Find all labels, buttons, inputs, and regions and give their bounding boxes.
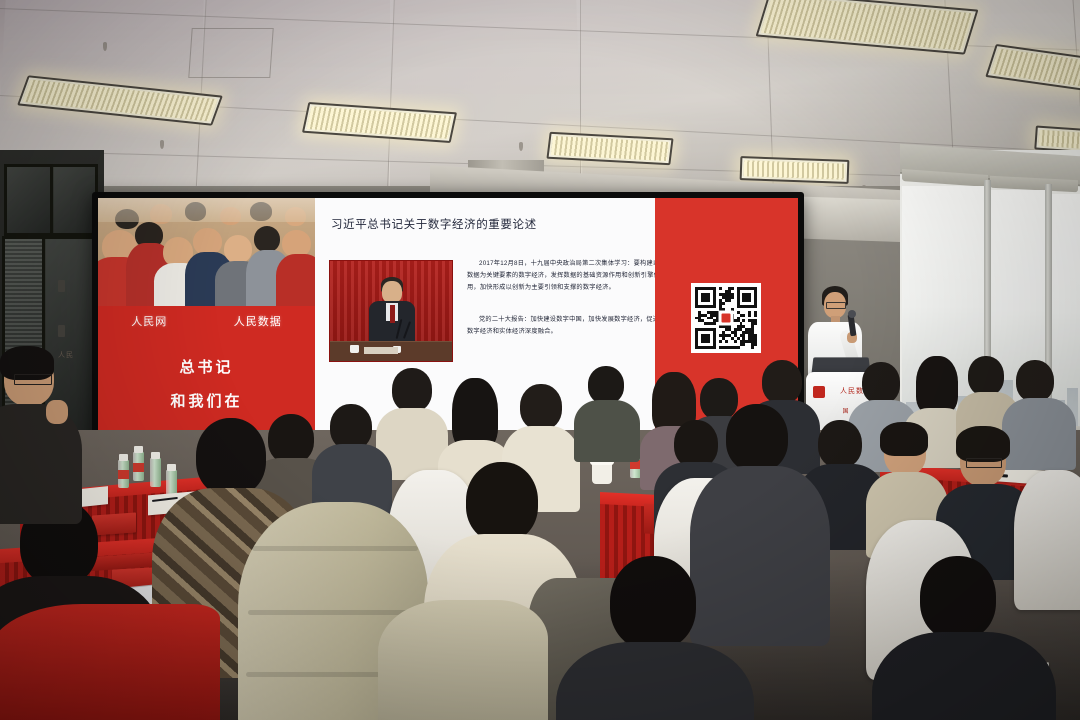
sprinkler-icon (519, 142, 523, 151)
glass-pane (50, 164, 98, 236)
slide-headline-1: 总书记 (98, 356, 315, 377)
sprinkler-icon (103, 42, 107, 51)
slide-left-panel: 人民网 人民数据 总书记 和我们在 (98, 198, 315, 438)
door-hardware-icon[interactable] (58, 280, 65, 292)
bottle-cap (119, 454, 128, 461)
slide-paragraph-1: 2017年12月8日，十九届中央政治局第二次集体学习：要构建以数据为关键要素的数… (467, 258, 663, 294)
chair (1014, 470, 1080, 610)
bottle-cap (167, 464, 176, 471)
slide-title: 习近平总书记关于数字经济的重要论述 (331, 216, 537, 232)
qr-code[interactable] (691, 283, 761, 353)
sprinkler-icon (160, 140, 164, 149)
slide-brand-row: 人民网 人民数据 (98, 313, 315, 329)
group-photo (98, 198, 315, 306)
bottle-label (118, 470, 129, 479)
xi-jinping-photo (329, 260, 453, 362)
brand-renminshuju: 人民数据 (234, 313, 282, 329)
water-bottle[interactable] (150, 458, 161, 487)
coffee-cup[interactable] (592, 462, 612, 484)
slide-paragraph-2: 党的二十大报告：加快建设数字中国，加快发展数字经济，促进数字经济和实体经济深度融… (467, 314, 663, 338)
chair-red-cover (0, 604, 220, 720)
ceiling-access-hatch (188, 28, 273, 78)
bottle-cap (134, 446, 143, 453)
slide-headline-2: 和我们在 (98, 390, 315, 411)
brand-renminwang: 人民网 (131, 313, 167, 329)
microphone-head (848, 310, 856, 318)
conference-room-scene: 人民 (0, 0, 1080, 720)
glass-pane (4, 164, 54, 236)
bottle-label (133, 463, 144, 472)
glasses-icon (826, 302, 846, 309)
door-hardware-icon[interactable] (58, 325, 65, 337)
bottle-cap (151, 452, 160, 459)
name-card (92, 512, 136, 535)
wall-signage: 人民 (58, 350, 92, 360)
led-screen-bezel: 人民网 人民数据 总书记 和我们在 习近平总书记关于数字经济的重要论述 (92, 192, 804, 444)
ceiling-light-4 (740, 156, 850, 184)
